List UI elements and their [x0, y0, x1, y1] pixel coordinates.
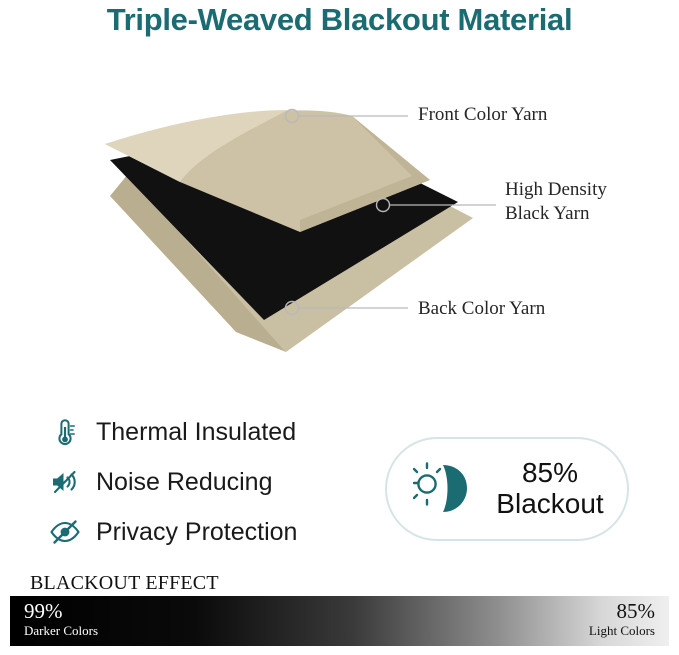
callout-label-front-color-yarn: Front Color Yarn: [418, 104, 547, 126]
blackout-badge-word: Blackout: [496, 488, 603, 519]
fabric-layers-diagram: Front Color Yarn High Density Black Yarn…: [0, 70, 679, 360]
blackout-badge-text: 85% Blackout: [473, 458, 627, 520]
blackout-effect-right-label: 85% Light Colors: [589, 600, 655, 638]
feature-item-thermal-insulated: Thermal Insulated: [48, 410, 378, 454]
blackout-effect-title: BLACKOUT EFFECT: [30, 572, 219, 595]
blackout-effect-right-percent: 85%: [589, 600, 655, 623]
blackout-effect-right-caption: Light Colors: [589, 623, 655, 638]
feature-label-noise-reducing: Noise Reducing: [96, 468, 273, 497]
blackout-effect-left-percent: 99%: [24, 600, 98, 623]
thermometer-icon: [48, 415, 82, 449]
feature-list: Thermal Insulated Noise Reducing Privacy…: [48, 410, 378, 560]
feature-item-noise-reducing: Noise Reducing: [48, 460, 378, 504]
feature-label-privacy-protection: Privacy Protection: [96, 518, 297, 547]
speaker-mute-icon: [48, 465, 82, 499]
callout-label-back-color-yarn: Back Color Yarn: [418, 298, 545, 320]
blackout-effect-left-label: 99% Darker Colors: [24, 600, 98, 638]
page-title: Triple-Weaved Blackout Material: [0, 2, 679, 38]
feature-label-thermal-insulated: Thermal Insulated: [96, 418, 296, 447]
callout-label-high-density-black-yarn: High Density Black Yarn: [505, 178, 665, 226]
callout-label-high-density-line2: Black Yarn: [505, 203, 589, 224]
blackout-badge-percent: 85%: [522, 457, 578, 488]
callout-label-high-density-line1: High Density: [505, 179, 607, 200]
blackout-badge: 85% Blackout: [385, 437, 629, 541]
feature-item-privacy-protection: Privacy Protection: [48, 510, 378, 554]
sun-through-curtain-icon: [409, 459, 479, 519]
blackout-effect-left-caption: Darker Colors: [24, 623, 98, 638]
eye-slash-icon: [48, 515, 82, 549]
blackout-effect-gradient-bar: [10, 596, 669, 646]
